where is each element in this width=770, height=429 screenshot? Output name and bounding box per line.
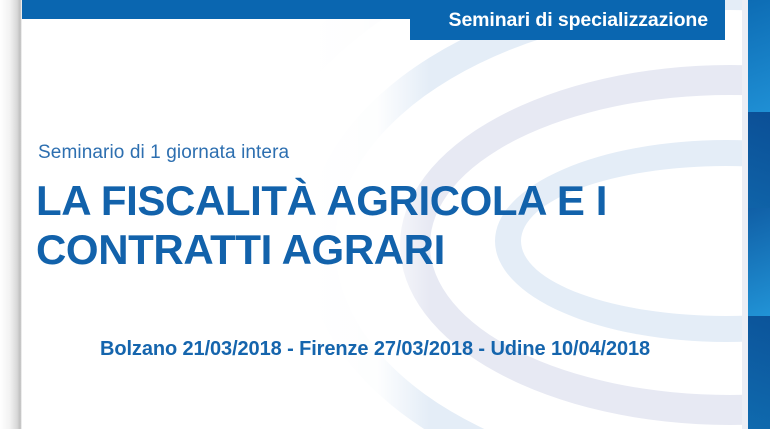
seminar-dates: Bolzano 21/03/2018 - Firenze 27/03/2018 … <box>100 338 650 361</box>
seminar-kicker: Seminario di 1 giornata intera <box>38 142 289 164</box>
poster-content: Seminario di 1 giornata intera LA FISCAL… <box>0 0 770 429</box>
seminar-title-line-2: CONTRATTI AGRARI <box>36 225 676 274</box>
seminar-title: LA FISCALITÀ AGRICOLA E I CONTRATTI AGRA… <box>36 176 676 274</box>
seminar-poster: Seminari di specializzazione Seminario d… <box>0 0 770 429</box>
seminar-title-line-1: LA FISCALITÀ AGRICOLA E I <box>36 177 607 224</box>
